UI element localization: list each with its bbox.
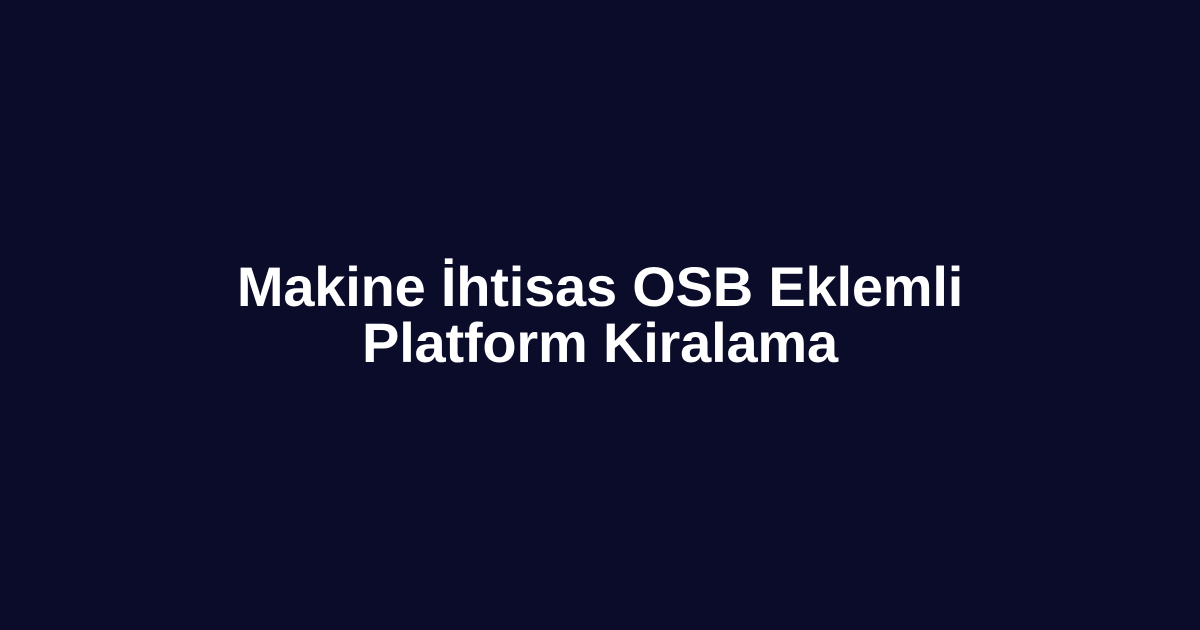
card-content: Makine İhtisas OSB Eklemli Platform Kira… xyxy=(125,259,1075,371)
card-title: Makine İhtisas OSB Eklemli Platform Kira… xyxy=(125,259,1075,371)
social-share-card: Makine İhtisas OSB Eklemli Platform Kira… xyxy=(0,0,1200,630)
